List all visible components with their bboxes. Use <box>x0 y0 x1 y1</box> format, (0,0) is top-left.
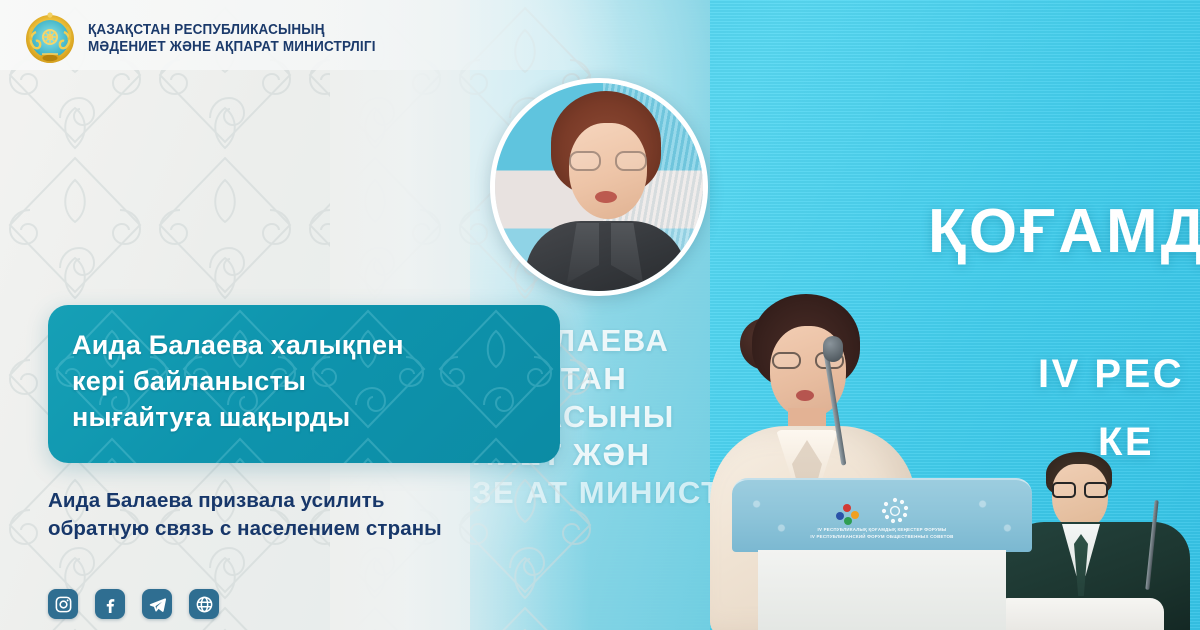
subtitle-line-2: обратную связь с населением страны <box>48 515 568 543</box>
subtitle: Аида Балаева призвала усилить обратную с… <box>48 487 568 543</box>
website-globe-icon[interactable] <box>189 589 219 619</box>
headline-line-3: нығайтуға шақырды <box>72 399 544 435</box>
header: ҚАЗАҚСТАН РЕСПУБЛИКАСЫНЫҢ МӘДЕНИЕТ ЖӘНЕ … <box>24 10 397 68</box>
ministry-name: ҚАЗАҚСТАН РЕСПУБЛИКАСЫНЫҢ МӘДЕНИЕТ ЖӘНЕ … <box>88 22 376 56</box>
kazakhstan-emblem-icon <box>24 10 76 68</box>
ministry-line-2: МӘДЕНИЕТ ЖӘНЕ АҚПАРАТ МИНИСТРЛІГІ <box>88 39 376 56</box>
microphone-head <box>823 336 843 362</box>
podium: IV РЕСПУБЛИКАЛЫҚ ҚОҒАМДЫҚ КЕҢЕСТЕР ФОРУМ… <box>732 478 1032 630</box>
ministry-line-1: ҚАЗАҚСТАН РЕСПУБЛИКАСЫНЫҢ <box>88 22 376 39</box>
forum-dots-logo <box>836 502 866 524</box>
podium-caption-kz: IV РЕСПУБЛИКАЛЫҚ ҚОҒАМДЫҚ КЕҢЕСТЕР ФОРУМ… <box>732 526 1032 533</box>
headline-line-1: Аида Балаева халықпен <box>72 327 544 363</box>
subtitle-line-1: Аида Балаева призвала усилить <box>48 487 568 515</box>
headline-line-2: кері байланысты <box>72 363 544 399</box>
podium-caption-ru: IV РЕСПУБЛИКАНСКИЙ ФОРУМ ОБЩЕСТВЕННЫХ СО… <box>732 533 1032 540</box>
podium-caption: IV РЕСПУБЛИКАЛЫҚ ҚОҒАМДЫҚ КЕҢЕСТЕР ФОРУМ… <box>732 526 1032 540</box>
headline-box: Аида Балаева халықпен кері байланысты ны… <box>48 305 560 463</box>
facebook-icon[interactable] <box>95 589 125 619</box>
forum-emblem-icon <box>880 496 910 526</box>
screen-title: ҚОҒАМД <box>928 196 1200 267</box>
avatar <box>490 78 708 296</box>
telegram-icon[interactable] <box>142 589 172 619</box>
screen-subtitle-line1: IV РЕС <box>1038 352 1184 397</box>
page-title: Аида Балаева халықпен кері байланысты ны… <box>72 327 544 435</box>
instagram-icon[interactable] <box>48 589 78 619</box>
social-links <box>48 589 219 619</box>
news-card: А БАЛАЕВА ЗАҚСТАН ЛИКАСЫНЫ НИЕТ ЖӘН ЗЕ А… <box>0 0 1200 630</box>
